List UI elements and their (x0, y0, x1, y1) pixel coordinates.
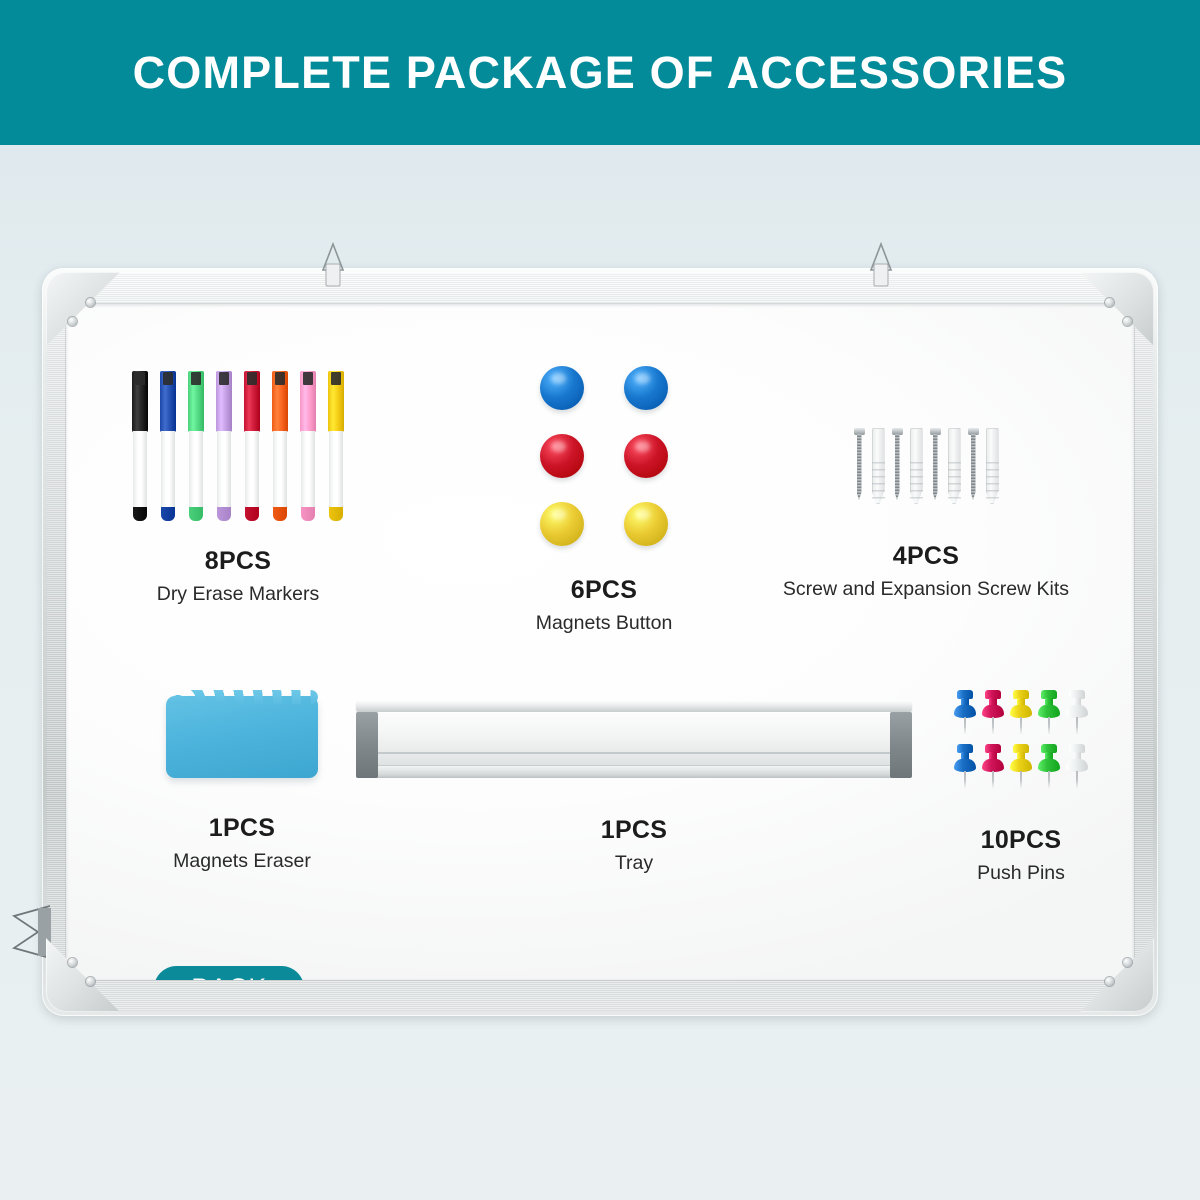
header-banner: COMPLETE PACKAGE OF ACCESSORIES (0, 0, 1200, 145)
magnet-6 (624, 502, 668, 546)
push-pin-5 (1066, 690, 1088, 734)
accessory-markers: 8PCS Dry Erase Markers (88, 366, 388, 605)
push-pin-1 (954, 690, 976, 734)
screw-2 (892, 428, 903, 506)
magnet-2 (624, 366, 668, 410)
board-writing-surface: 8PCS Dry Erase Markers 6PCS Magnets Butt… (66, 304, 1134, 980)
screw-3 (930, 428, 941, 506)
screws-qty: 4PCS (726, 544, 1126, 569)
accessory-tray: 1PCS Tray (334, 680, 934, 874)
tray-label: Tray (334, 852, 934, 874)
magnet-3 (540, 434, 584, 478)
corner-bracket-top-right (1080, 272, 1154, 346)
pins-qty: 10PCS (916, 828, 1126, 853)
whiteboard: 8PCS Dry Erase Markers 6PCS Magnets Butt… (42, 268, 1158, 1016)
tray-qty: 1PCS (334, 818, 934, 843)
marker-7 (300, 371, 316, 521)
accessories-grid: 8PCS Dry Erase Markers 6PCS Magnets Butt… (66, 304, 1134, 980)
eraser-illustration (166, 696, 318, 778)
markers-qty: 8PCS (88, 549, 388, 574)
screw-1 (854, 428, 865, 506)
pins-label: Push Pins (916, 862, 1126, 884)
magnet-1 (540, 366, 584, 410)
pins-illustration (916, 690, 1126, 788)
magnet-5 (540, 502, 584, 546)
marker-4 (216, 371, 232, 521)
expansion-anchor-2 (910, 428, 923, 504)
push-pin-10 (1066, 744, 1088, 788)
markers-illustration (88, 366, 388, 521)
expansion-anchor-4 (986, 428, 999, 504)
eraser-qty: 1PCS (128, 816, 356, 841)
accessory-pins: 10PCS Push Pins (916, 680, 1126, 884)
expansion-anchor-3 (948, 428, 961, 504)
top-hanger-right-icon (868, 242, 894, 288)
corner-bracket-bottom-left (46, 938, 120, 1012)
screws-label: Screw and Expansion Screw Kits (726, 578, 1126, 600)
marker-3 (188, 371, 204, 521)
expansion-anchor-1 (872, 428, 885, 504)
corner-bracket-bottom-right (1080, 938, 1154, 1012)
marker-5 (244, 371, 260, 521)
tray-illustration (356, 700, 912, 778)
magnets-label: Magnets Button (454, 612, 754, 634)
screw-4 (968, 428, 979, 506)
push-pin-7 (982, 744, 1004, 788)
accessory-screws: 4PCS Screw and Expansion Screw Kits (726, 366, 1126, 600)
accessory-magnets: 6PCS Magnets Button (454, 366, 754, 634)
marker-8 (328, 371, 344, 521)
marker-1 (132, 371, 148, 521)
magnets-illustration (454, 366, 754, 546)
marker-6 (272, 371, 288, 521)
accessory-eraser: 1PCS Magnets Eraser (128, 680, 356, 872)
marker-2 (160, 371, 176, 521)
corner-bracket-top-left (46, 272, 120, 346)
page-title: COMPLETE PACKAGE OF ACCESSORIES (133, 47, 1068, 99)
push-pin-3 (1010, 690, 1032, 734)
top-hanger-left-icon (320, 242, 346, 288)
push-pin-4 (1038, 690, 1060, 734)
push-pin-6 (954, 744, 976, 788)
push-pin-2 (982, 690, 1004, 734)
push-pin-9 (1038, 744, 1060, 788)
back-badge[interactable]: BACK (154, 966, 304, 980)
magnets-qty: 6PCS (454, 578, 754, 603)
magnet-4 (624, 434, 668, 478)
eraser-label: Magnets Eraser (128, 850, 356, 872)
markers-label: Dry Erase Markers (88, 583, 388, 605)
push-pin-8 (1010, 744, 1032, 788)
screws-illustration (726, 428, 1126, 512)
